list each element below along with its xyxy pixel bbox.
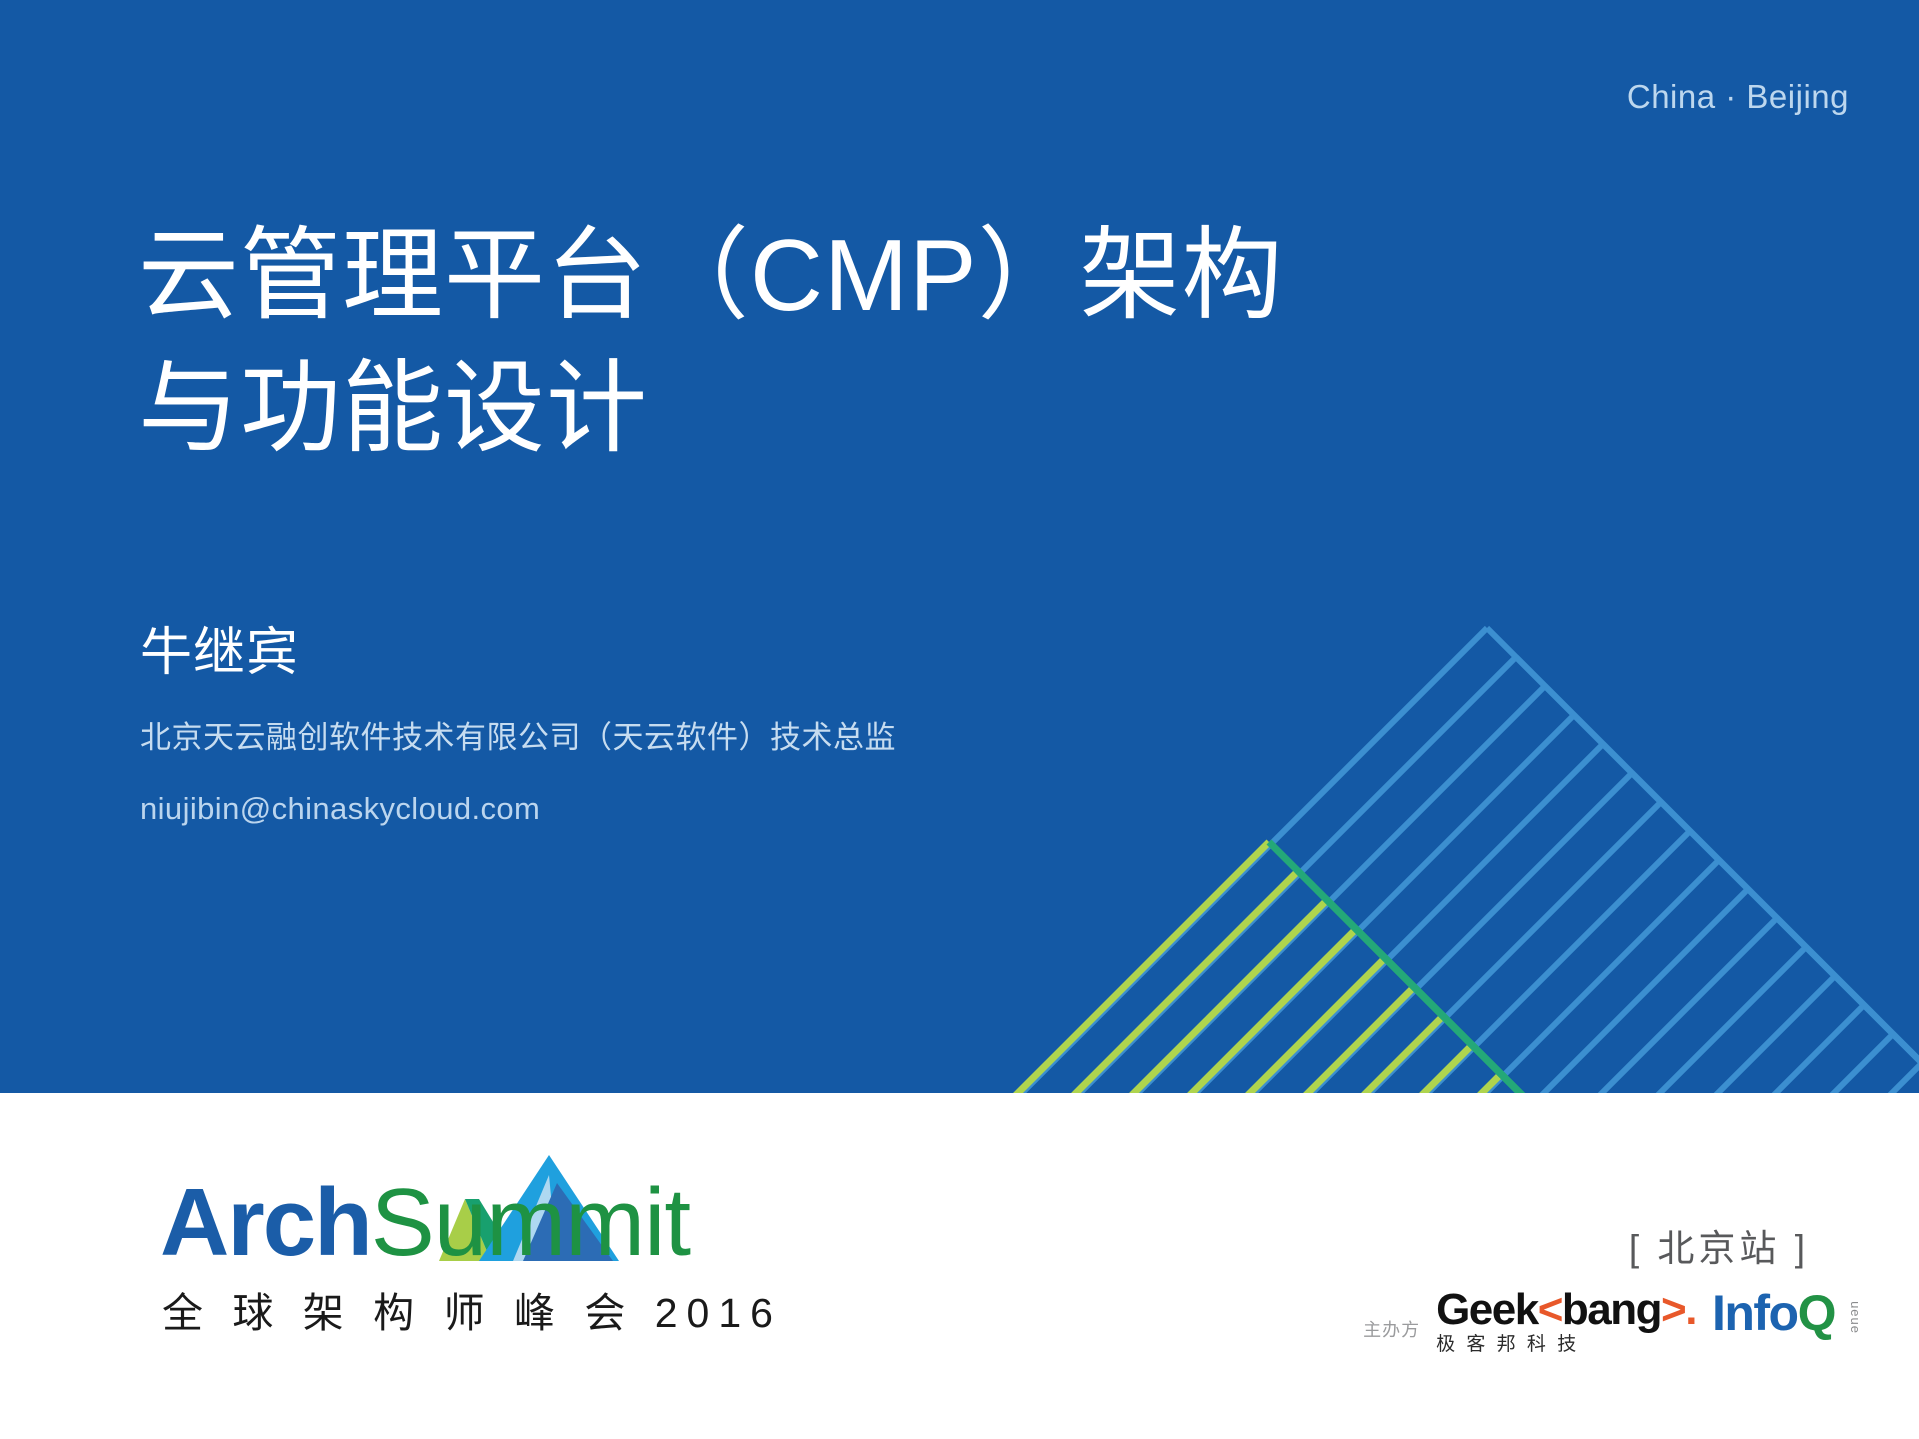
geekbang-chinese-name: 极 客 邦 科 技 — [1436, 1335, 1696, 1354]
archsummit-subtitle: 全 球 架 构 师 峰 会 2016 — [162, 1279, 782, 1339]
archsummit-logo: ArchSummit 全 球 架 构 师 峰 会 2016 — [160, 1153, 740, 1353]
geekbang-logo: Geek<bang>. 极 客 邦 科 技 — [1436, 1288, 1696, 1354]
sponsor-row: 主办方 Geek<bang>. 极 客 邦 科 技 InfoQ ueue — [1363, 1288, 1835, 1354]
geekbang-part-2: bang — [1562, 1285, 1661, 1334]
slide-title: 云管理平台（CMP）架构 与功能设计 — [138, 210, 1638, 477]
wordmark-arch: Arch — [160, 1169, 371, 1276]
city-badge: [ 北京站 ] — [1629, 1218, 1809, 1272]
speaker-affiliation: 北京天云融创软件技术有限公司（天云软件）技术总监 — [140, 718, 1240, 758]
speaker-email: niujibin@chinaskycloud.com — [140, 789, 1240, 829]
geekbang-accent-right: >. — [1661, 1285, 1696, 1334]
infoq-q: Q — [1798, 1285, 1835, 1341]
speaker-name: 牛继宾 — [140, 622, 1240, 684]
title-line-2: 与功能设计 — [138, 343, 1638, 476]
presentation-slide: China · Beijing 云管理平台（CMP）架构 与功能设计 牛继宾 北… — [0, 0, 1919, 1439]
wordmark-summit: Summit — [371, 1169, 690, 1276]
location-tag: China · Beijing — [1627, 78, 1849, 116]
sponsor-label: 主办方 — [1363, 1316, 1420, 1354]
geekbang-wordmark: Geek<bang>. — [1436, 1288, 1696, 1332]
infoq-logo: InfoQ ueue — [1712, 1288, 1835, 1354]
slide-hero-background: China · Beijing 云管理平台（CMP）架构 与功能设计 牛继宾 北… — [0, 0, 1919, 1093]
geekbang-part-1: Geek — [1436, 1285, 1538, 1334]
speaker-info: 牛继宾 北京天云融创软件技术有限公司（天云软件）技术总监 niujibin@ch… — [140, 622, 1240, 829]
decorative-chevron-lines — [0, 0, 1919, 1093]
title-line-1: 云管理平台（CMP）架构 — [138, 210, 1638, 343]
infoq-queue-text: ueue — [1849, 1301, 1862, 1334]
infoq-info: Info — [1712, 1285, 1798, 1341]
archsummit-wordmark: ArchSummit — [160, 1175, 690, 1271]
geekbang-accent-left: < — [1538, 1285, 1562, 1334]
infoq-wordmark: InfoQ — [1712, 1288, 1835, 1338]
